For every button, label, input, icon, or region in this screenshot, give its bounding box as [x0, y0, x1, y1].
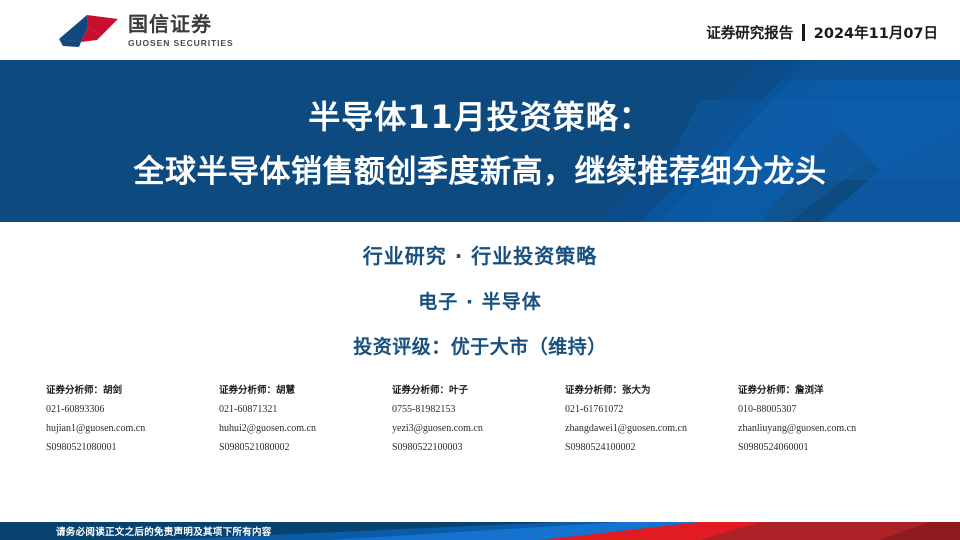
analyst-card: 证券分析师：胡慧 021-60871321 huhui2@guosen.com.…: [219, 382, 392, 453]
analyst-license: S0980524060001: [738, 442, 911, 453]
brand-name-cn: 国信证券: [128, 14, 234, 34]
header-report-meta: 证券研究报告 2024年11月07日: [706, 22, 938, 43]
page-header: 国信证券 GUOSEN SECURITIES 证券研究报告 2024年11月07…: [0, 0, 960, 60]
analyst-license: S0980524100002: [565, 442, 738, 453]
analyst-license: S0980521080002: [219, 442, 392, 453]
analyst-phone: 021-60893306: [46, 404, 219, 415]
report-title-line2: 全球半导体销售额创季度新高，继续推荐细分龙头: [134, 146, 827, 191]
footer-disclaimer: 请务必阅读正文之后的免责声明及其项下所有内容: [56, 524, 272, 538]
analyst-card: 证券分析师：詹浏洋 010-88005307 zhanliuyang@guose…: [738, 382, 911, 453]
title-banner: 半导体11月投资策略： 全球半导体销售额创季度新高，继续推荐细分龙头: [0, 60, 960, 222]
report-title-line1: 半导体11月投资策略：: [308, 92, 652, 138]
sector-line: 电子 · 半导体: [418, 287, 541, 314]
analyst-card: 证券分析师：叶子 0755-81982153 yezi3@guosen.com.…: [392, 382, 565, 453]
analyst-phone: 010-88005307: [738, 404, 911, 415]
investment-rating-line: 投资评级：优于大市（维持）: [353, 332, 607, 359]
report-meta-block: 行业研究 · 行业投资策略 电子 · 半导体 投资评级：优于大市（维持）: [0, 240, 960, 359]
analyst-name: 证券分析师：詹浏洋: [738, 382, 911, 396]
analyst-card: 证券分析师：张大为 021-61761072 zhangdawei1@guose…: [565, 382, 738, 453]
analyst-name: 证券分析师：胡慧: [219, 382, 392, 396]
analyst-name: 证券分析师：叶子: [392, 382, 565, 396]
brand-logo: 国信证券 GUOSEN SECURITIES: [57, 14, 234, 48]
analyst-license: S0980521080001: [46, 442, 219, 453]
industry-category-line: 行业研究 · 行业投资策略: [363, 240, 598, 269]
analyst-license: S0980522100003: [392, 442, 565, 453]
brand-name-en: GUOSEN SECURITIES: [128, 39, 234, 48]
analyst-card: 证券分析师：胡剑 021-60893306 hujian1@guosen.com…: [46, 382, 219, 453]
analyst-email[interactable]: yezi3@guosen.com.cn: [392, 423, 565, 434]
analyst-list: 证券分析师：胡剑 021-60893306 hujian1@guosen.com…: [46, 382, 936, 453]
analyst-email[interactable]: zhanliuyang@guosen.com.cn: [738, 423, 911, 434]
analyst-email[interactable]: zhangdawei1@guosen.com.cn: [565, 423, 738, 434]
guosen-chevron-logo-icon: [57, 14, 119, 48]
analyst-email[interactable]: huhui2@guosen.com.cn: [219, 423, 392, 434]
analyst-phone: 021-61761072: [565, 404, 738, 415]
analyst-email[interactable]: hujian1@guosen.com.cn: [46, 423, 219, 434]
analyst-phone: 021-60871321: [219, 404, 392, 415]
banner-title-group: 半导体11月投资策略： 全球半导体销售额创季度新高，继续推荐细分龙头: [0, 60, 960, 222]
analyst-name: 证券分析师：胡剑: [46, 382, 219, 396]
analyst-name: 证券分析师：张大为: [565, 382, 738, 396]
report-date: 2024年11月07日: [814, 22, 938, 43]
analyst-phone: 0755-81982153: [392, 404, 565, 415]
vertical-divider-icon: [802, 24, 805, 41]
report-type-label: 证券研究报告: [706, 22, 793, 43]
brand-logo-text: 国信证券 GUOSEN SECURITIES: [128, 14, 234, 48]
